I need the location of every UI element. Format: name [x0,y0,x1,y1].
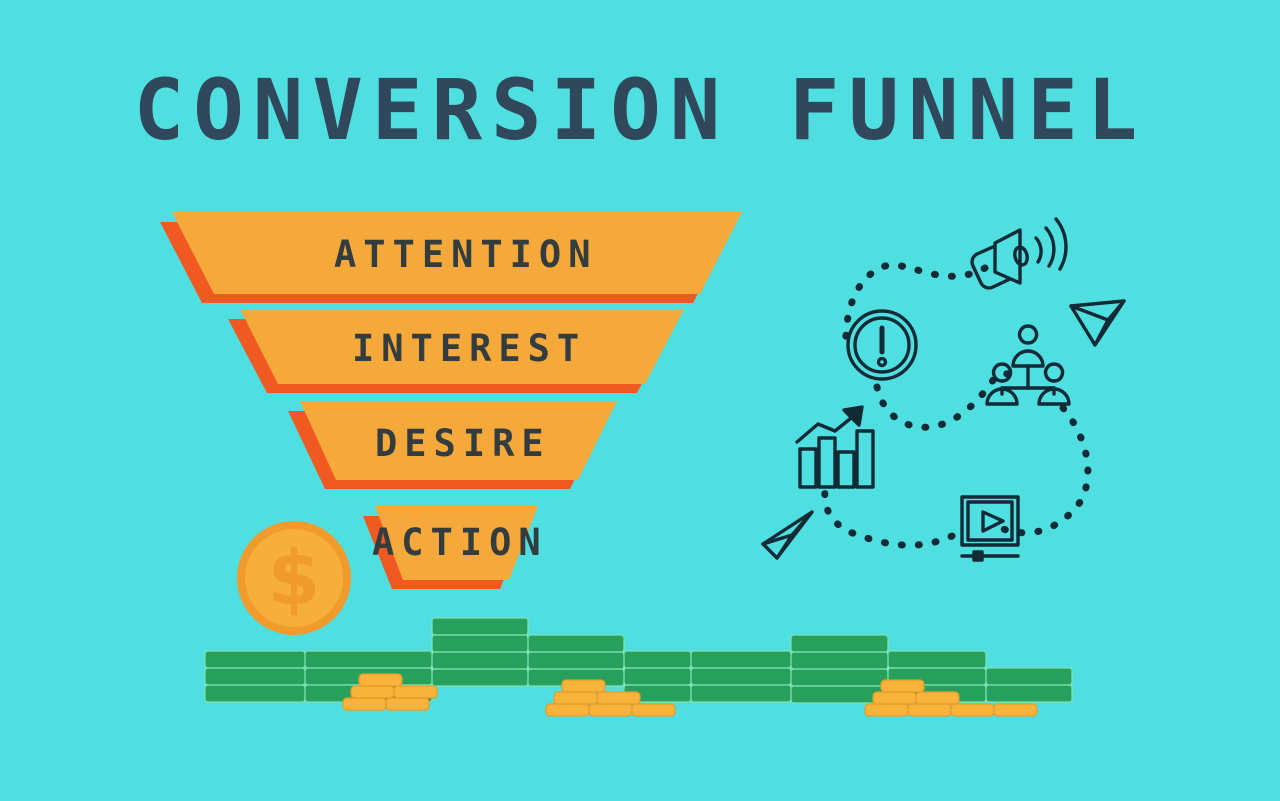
sound-waves-icon [1036,219,1066,269]
megaphone-icon [972,230,1029,288]
bar-chart-growth-icon [797,407,873,487]
poster-canvas: CONVERSION FUNNEL ATTENTION INTEREST DES… [0,0,1280,801]
dotted-connector-path-bottom [825,480,952,545]
dotted-connector-path-middle [877,374,1012,428]
paper-plane-icon-bottom [763,512,812,558]
alert-circle-icon [848,311,916,379]
paper-plane-icon-top [1071,301,1124,345]
video-player-icon [962,497,1018,560]
people-network-icon [987,326,1069,404]
marketing-icon-cluster [0,0,1280,801]
